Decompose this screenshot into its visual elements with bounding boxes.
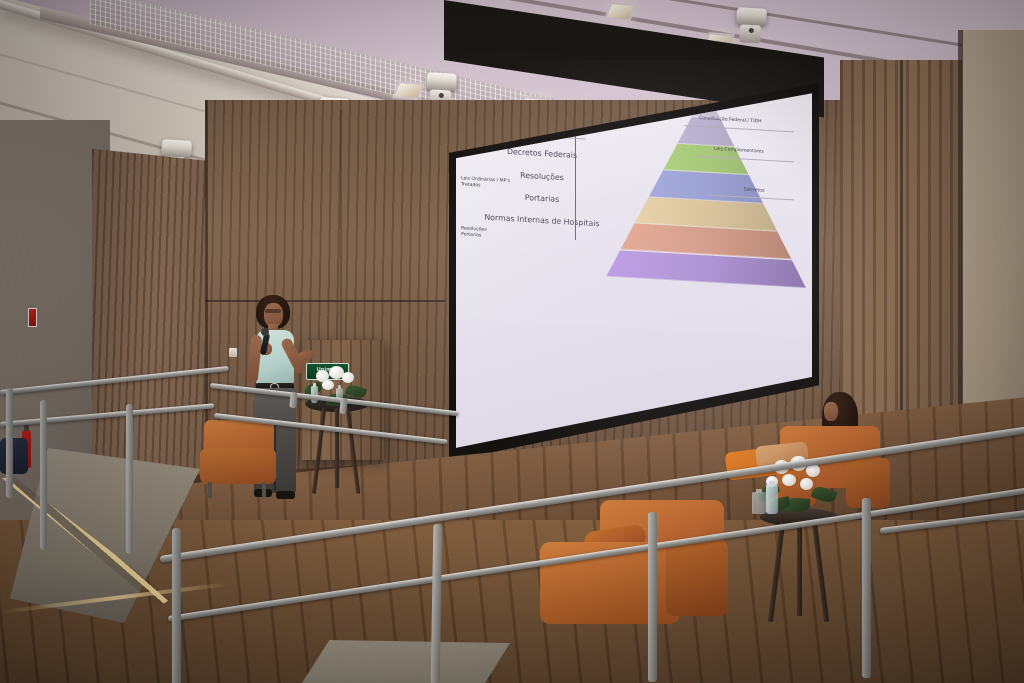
exit-sign-icon (28, 308, 37, 327)
auditorium-scene: Hierarquia Normativa Constituição Federa… (0, 0, 1024, 683)
stage-rail-post-4 (862, 498, 871, 678)
list-item: Normas Internas de Hospitais (484, 213, 599, 229)
track-spotlight (736, 7, 767, 34)
list-item: Decretos Federais (507, 147, 577, 160)
list-item: Resoluções (520, 170, 564, 182)
flower-bloom (800, 478, 813, 490)
side-table-right-leg (768, 522, 785, 622)
armchair-front (540, 500, 730, 628)
side-table-left (305, 396, 369, 500)
armchair-left-leg2 (262, 482, 266, 498)
side-table-right-leg3 (797, 522, 802, 616)
ramp-rail-post-2 (126, 404, 133, 554)
armchair-left-leg (208, 482, 212, 498)
flower-bloom (322, 380, 334, 390)
stage-rail-post (172, 528, 181, 683)
flower-bloom (782, 474, 796, 486)
glasses-icon (265, 309, 281, 313)
ramp-rail-post (40, 400, 47, 550)
floor-mat (300, 640, 510, 683)
side-table-left-leg (312, 408, 326, 494)
water-glass-right (752, 492, 766, 514)
stage-rail-post-3 (648, 512, 657, 682)
armchair-front-arm2 (666, 540, 728, 616)
ramp-rail-post-3 (6, 388, 13, 498)
microphone-head-icon (261, 328, 269, 336)
side-table-left-leg2 (346, 408, 360, 494)
flower-bloom (342, 372, 354, 383)
side-table-right-leg2 (812, 522, 829, 622)
leaf (811, 484, 838, 504)
water-bottle-right (766, 484, 778, 514)
side-table-left-leg3 (335, 408, 339, 488)
speaker-shoe-right (276, 491, 295, 499)
track-spotlight (426, 72, 457, 99)
wall-outlet (229, 348, 237, 357)
bag (0, 438, 28, 474)
list-item: Portarias (525, 193, 559, 204)
armchair-left-seat (200, 448, 276, 484)
pyramid-label-decretos: Decretos (744, 188, 765, 195)
pyramid-label-resolucoes: Resoluções Portarias (461, 226, 487, 240)
armchair-left (200, 420, 278, 500)
